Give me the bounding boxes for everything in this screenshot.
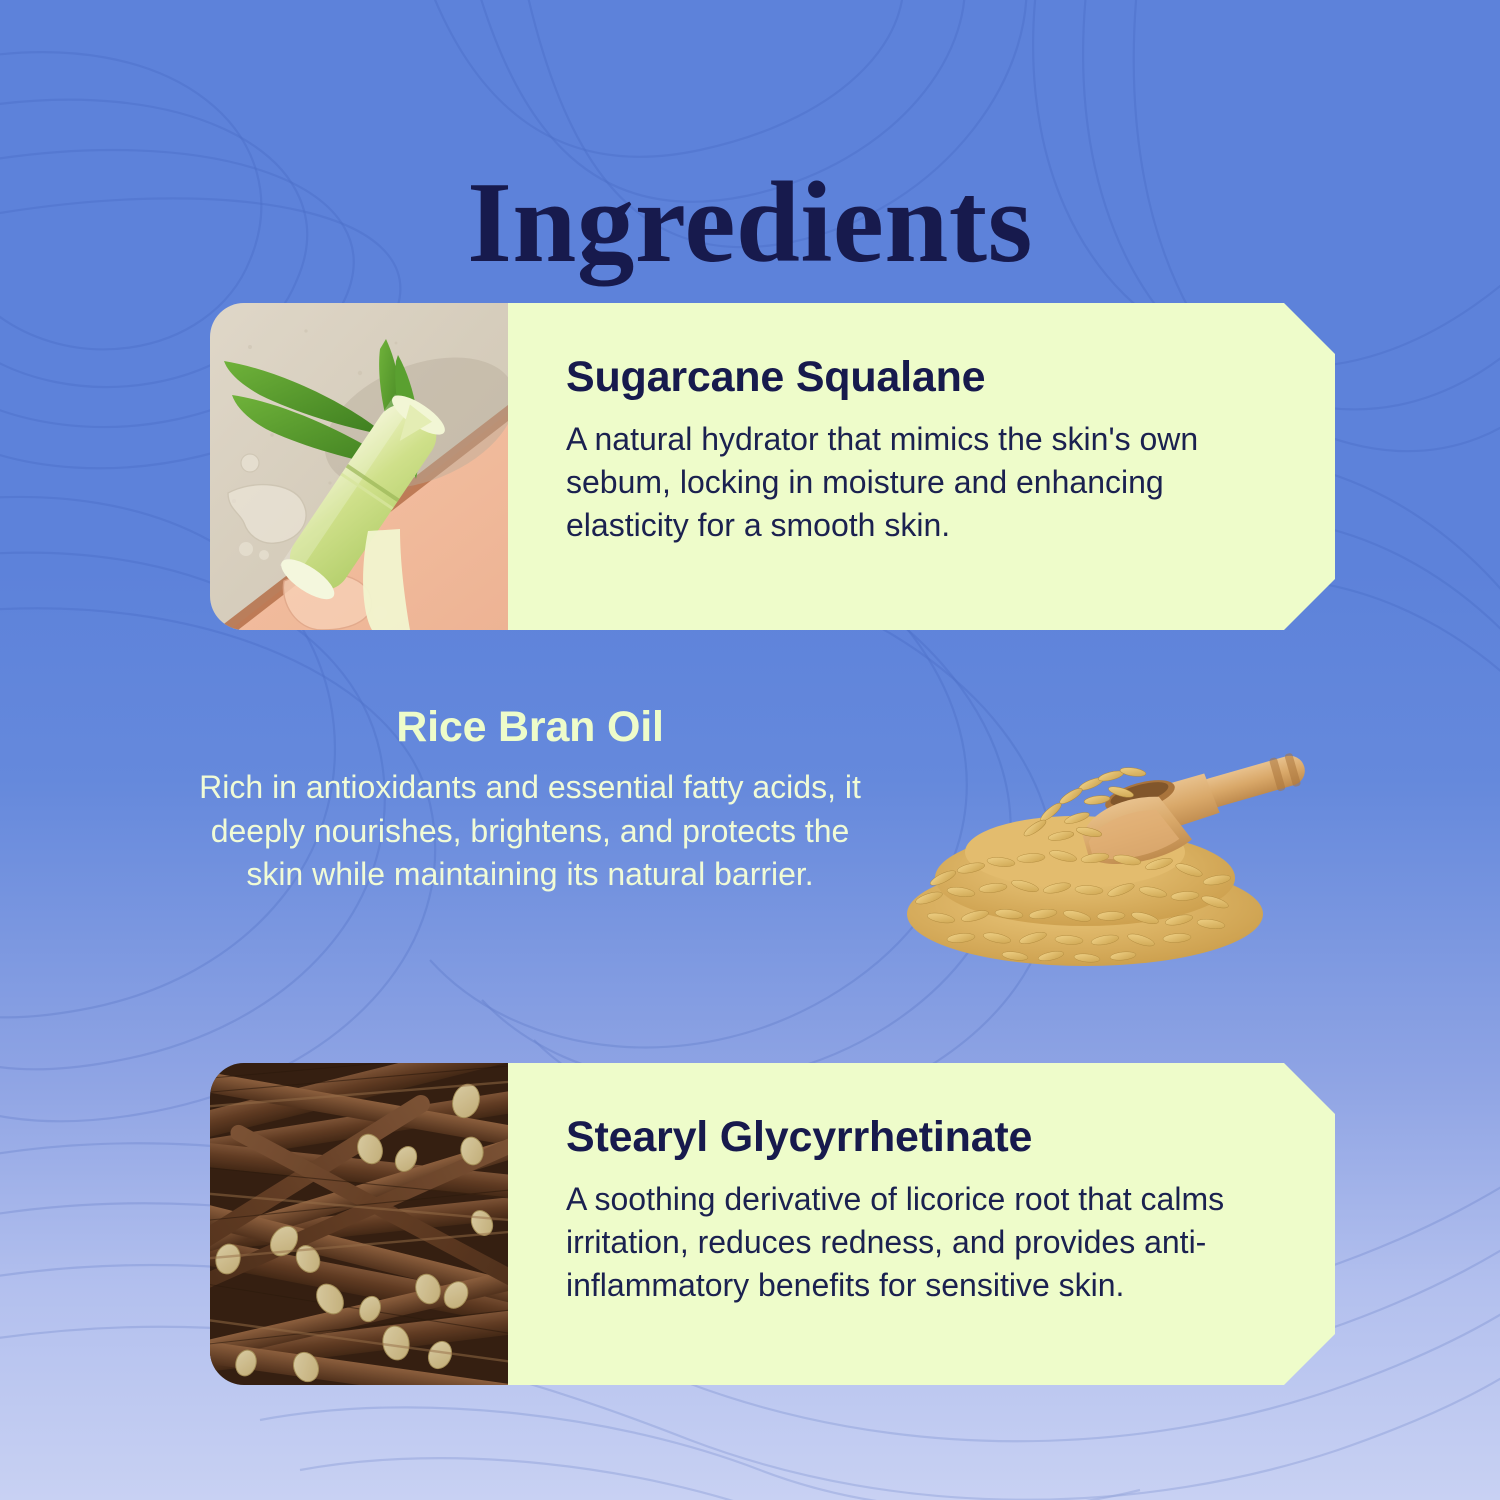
ingredient-description: Rich in antioxidants and essential fatty…	[190, 766, 870, 897]
ingredient-name: Rice Bran Oil	[190, 705, 870, 750]
ingredient-description: A natural hydrator that mimics the skin'…	[566, 418, 1281, 547]
ingredient-card-sugarcane-squalane: Sugarcane Squalane A natural hydrator th…	[210, 303, 1335, 630]
sugarcane-image	[210, 303, 508, 630]
ingredient-text-panel: Stearyl Glycyrrhetinate A soothing deriv…	[508, 1063, 1335, 1385]
ingredients-infographic: Ingredients	[0, 0, 1500, 1500]
ingredient-text-panel: Sugarcane Squalane A natural hydrator th…	[508, 303, 1335, 630]
page-title: Ingredients	[0, 165, 1500, 280]
ingredient-name: Stearyl Glycyrrhetinate	[566, 1115, 1281, 1160]
ingredient-description: A soothing derivative of licorice root t…	[566, 1178, 1281, 1307]
licorice-root-image	[210, 1063, 508, 1385]
ingredient-card-rice-bran-oil: Rice Bran Oil Rich in antioxidants and e…	[190, 705, 870, 897]
ingredient-card-stearyl-glycyrrhetinate: Stearyl Glycyrrhetinate A soothing deriv…	[210, 1063, 1335, 1385]
rice-paddy-image	[885, 728, 1335, 978]
ingredient-name: Sugarcane Squalane	[566, 355, 1281, 400]
